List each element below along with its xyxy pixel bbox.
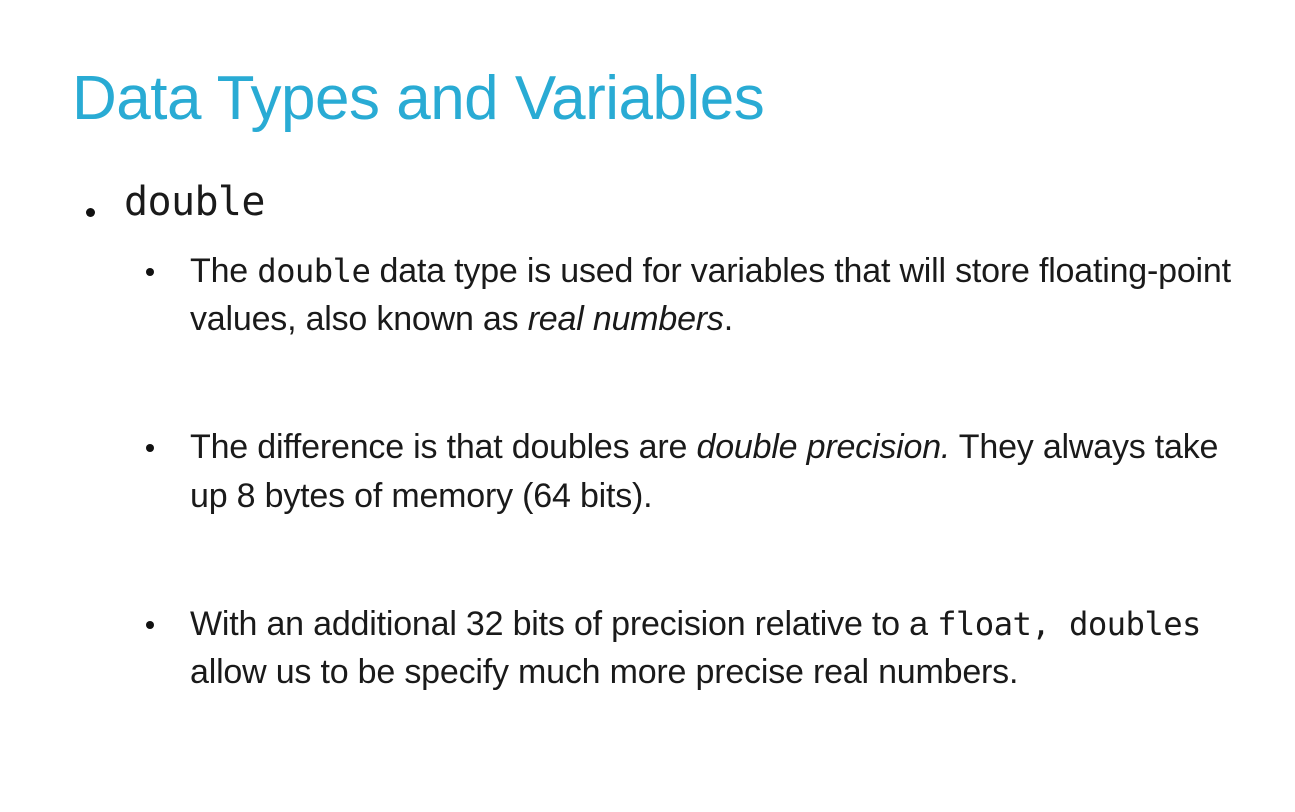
- list-item-text: With an additional 32 bits of precision …: [190, 600, 1235, 697]
- slide: Data Types and Variables double The doub…: [0, 0, 1295, 812]
- bullet-dot-icon: [146, 444, 154, 452]
- list-item: The double data type is used for variabl…: [124, 247, 1242, 344]
- text-span: With an additional 32 bits of precision …: [190, 605, 937, 643]
- bullet-dot-icon: [146, 621, 154, 629]
- text-span: .: [724, 300, 733, 338]
- list-item: With an additional 32 bits of precision …: [124, 600, 1242, 697]
- text-span: The difference is that doubles are: [190, 428, 696, 466]
- bullet-dot-icon: [146, 268, 154, 276]
- text-span: allow us to be specify much more precise…: [190, 653, 1018, 691]
- emphasis-span: real numbers: [528, 300, 724, 338]
- list-item-text: The double data type is used for variabl…: [190, 247, 1235, 344]
- list-item-label: double: [124, 178, 1242, 227]
- code-span: float, doubles: [937, 605, 1201, 643]
- text-span: The: [190, 252, 257, 290]
- bullet-dot-icon: [86, 208, 95, 217]
- list-item-text: The difference is that doubles are doubl…: [190, 423, 1235, 520]
- list-item: The difference is that doubles are doubl…: [124, 423, 1242, 520]
- page-title: Data Types and Variables: [72, 66, 764, 132]
- bullet-list-level2: The double data type is used for variabl…: [124, 247, 1242, 697]
- code-span: double: [257, 252, 370, 290]
- slide-body: double The double data type is used for …: [72, 178, 1242, 696]
- emphasis-span: double precision.: [696, 428, 950, 466]
- list-item-double: double The double data type is used for …: [72, 178, 1242, 696]
- bullet-list-level1: double The double data type is used for …: [72, 178, 1242, 696]
